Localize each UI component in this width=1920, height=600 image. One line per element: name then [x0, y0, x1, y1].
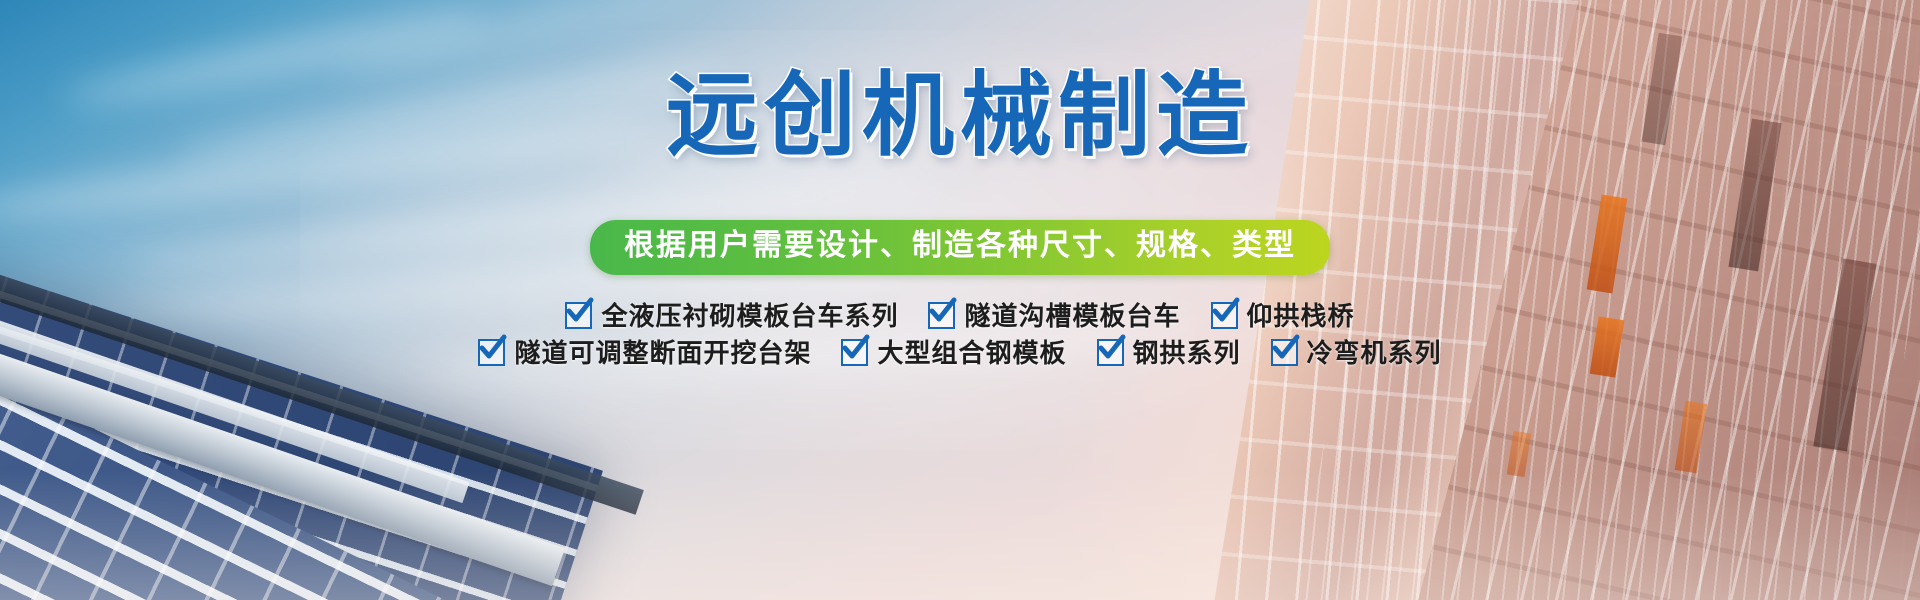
subtitle-pill: 根据用户需要设计、制造各种尺寸、规格、类型	[590, 220, 1330, 275]
feature-item[interactable]: 冷弯机系列	[1271, 339, 1442, 366]
feature-label: 仰拱栈桥	[1247, 303, 1355, 329]
feature-row: 全液压衬砌模板台车系列 隧道沟槽模板台车 仰拱栈桥	[565, 302, 1354, 329]
checkbox-checked-icon	[478, 339, 505, 366]
feature-label: 隧道可调整断面开挖台架	[514, 340, 811, 366]
feature-label: 冷弯机系列	[1307, 340, 1442, 366]
checkbox-checked-icon	[841, 339, 868, 366]
hero-banner: 远创机械制造 根据用户需要设计、制造各种尺寸、规格、类型 全液压衬砌模板台车系列…	[0, 0, 1920, 600]
feature-label: 全液压衬砌模板台车系列	[601, 303, 898, 329]
feature-item[interactable]: 隧道沟槽模板台车	[928, 302, 1180, 329]
feature-list: 全液压衬砌模板台车系列 隧道沟槽模板台车 仰拱栈桥	[0, 302, 1920, 366]
checkbox-checked-icon	[928, 302, 955, 329]
feature-label: 隧道沟槽模板台车	[964, 303, 1180, 329]
feature-item[interactable]: 钢拱系列	[1097, 339, 1241, 366]
feature-label: 钢拱系列	[1133, 340, 1241, 366]
feature-item[interactable]: 大型组合钢模板	[841, 339, 1066, 366]
checkbox-checked-icon	[565, 302, 592, 329]
banner-title: 远创机械制造	[0, 70, 1920, 162]
checkbox-checked-icon	[1211, 302, 1238, 329]
feature-item[interactable]: 隧道可调整断面开挖台架	[478, 339, 811, 366]
feature-item[interactable]: 仰拱栈桥	[1211, 302, 1355, 329]
banner-content: 远创机械制造 根据用户需要设计、制造各种尺寸、规格、类型 全液压衬砌模板台车系列…	[0, 0, 1920, 600]
checkbox-checked-icon	[1271, 339, 1298, 366]
feature-row: 隧道可调整断面开挖台架 大型组合钢模板 钢拱系列	[478, 339, 1441, 366]
checkbox-checked-icon	[1097, 339, 1124, 366]
subtitle-pill-wrap: 根据用户需要设计、制造各种尺寸、规格、类型	[0, 220, 1920, 275]
feature-label: 大型组合钢模板	[877, 340, 1066, 366]
feature-item[interactable]: 全液压衬砌模板台车系列	[565, 302, 898, 329]
